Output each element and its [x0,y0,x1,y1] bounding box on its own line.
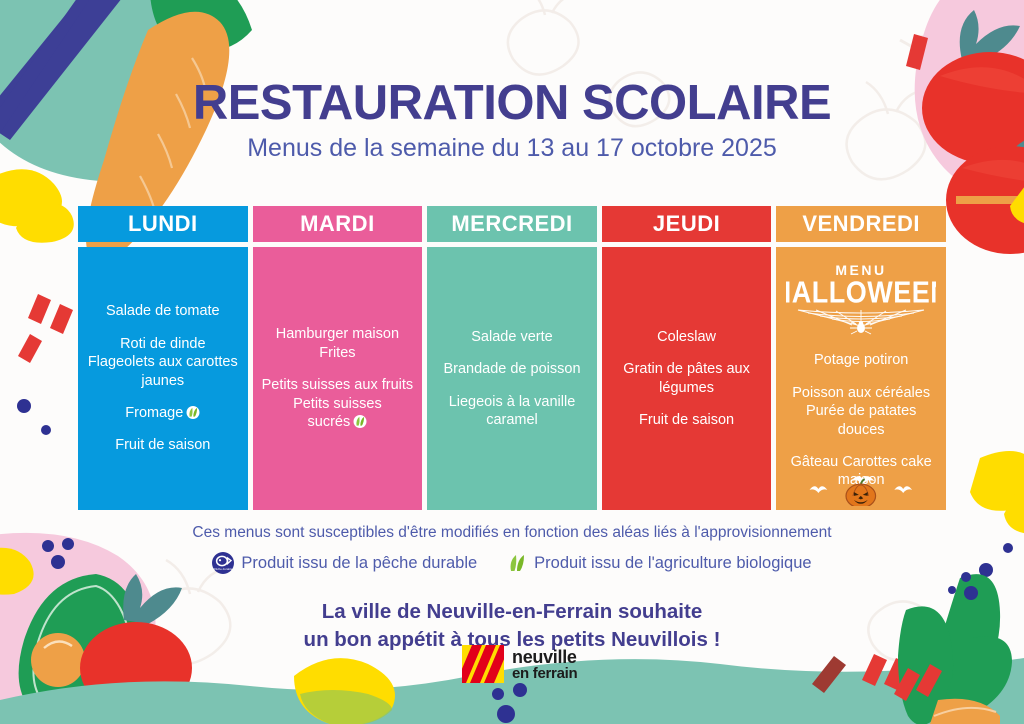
red-dashes-plant [894,664,942,701]
organic-leaf-icon [353,414,367,429]
menu-dish-text: Brandade de poisson [443,361,580,377]
day-menu-body: ColeslawGratin de pâtes aux légumesFruit… [602,247,772,510]
legend-item-sustainable-fishing: Pêche durable Produit issu de la pêche d… [212,552,477,574]
menu-dish-text: Fruit de saison [115,437,210,453]
day-menu-body: MENU HALLOWEEN Potage potironPoisson aux… [776,247,946,510]
menu-dish-text: Poisson aux céréales Purée de patates do… [792,385,930,438]
legend-label: Produit issu de la pêche durable [241,554,477,573]
day-header: MERCREDI [427,206,597,242]
red-dashes-left [18,294,73,363]
menu-dish: Poisson aux céréales Purée de patates do… [792,384,930,439]
yellow-blob-wave [294,658,395,724]
yellow-blobs-right-mid [970,451,1024,534]
menu-dish: Fruit de saison [115,436,210,454]
menu-dish: Liegeois à la vanille caramel [449,393,576,430]
legend-item-organic: Produit issu de l'agriculture biologique [507,552,811,574]
menu-dish-text: Fruit de saison [639,412,734,428]
menu-dish: Salade verte [471,328,552,346]
page-title: RESTAURATION SCOLAIRE [0,78,1024,129]
menu-dish: Fruit de saison [639,411,734,429]
halloween-banner-icon: MENU HALLOWEEN [786,260,936,338]
orange-bar-right [956,196,1024,204]
menu-dish-text: Petits suisses aux fruits Petits suisses… [262,377,414,430]
poster-header: RESTAURATION SCOLAIRE Menus de la semain… [0,78,1024,163]
sustainable-fishing-icon: Pêche durable [212,552,234,574]
menu-dish: Salade de tomate [106,302,220,320]
svg-text:Pêche durable: Pêche durable [214,567,233,571]
dark-red-dash-wave [812,656,846,693]
navy-dots-wave [492,683,527,723]
menu-dish-text: Potage potiron [814,352,908,368]
bat-icon [895,486,913,493]
day-header: MARDI [253,206,423,242]
day-column-mercredi: MERCREDISalade verteBrandade de poissonL… [427,206,597,510]
day-column-jeudi: JEUDIColeslawGratin de pâtes aux légumes… [602,206,772,510]
week-menu-grid: LUNDISalade de tomateRoti de dinde Flage… [78,206,946,510]
menu-dish-text: Salade verte [471,329,552,345]
day-menu-body: Salade de tomateRoti de dinde Flageolets… [78,247,248,510]
menu-dish-text: Hamburger maison Frites [276,326,399,360]
menu-dish-text: Gratin de pâtes aux légumes [623,361,750,395]
spider-icon [850,321,872,334]
menu-dish: Roti de dinde Flageolets aux carottes ja… [88,335,238,390]
menu-dish: Coleslaw [657,328,716,346]
day-header: VENDREDI [776,206,946,242]
menu-dish: Petits suisses aux fruits Petits suisses… [262,376,414,431]
navy-dots-left [17,399,51,435]
logo-line-2: en ferrain [512,666,577,681]
bat-icon [810,486,828,493]
green-leaf-top-left [150,0,252,51]
menu-dish-text: Liegeois à la vanille caramel [449,394,576,428]
day-menu-body: Hamburger maison FritesPetits suisses au… [253,247,423,510]
logo-line-1: neuville [512,648,577,666]
halloween-bottom-decor [776,472,946,506]
day-header: LUNDI [78,206,248,242]
organic-leaf-icon [507,552,527,574]
red-dashes-bottom-right [862,654,909,690]
yellow-blob-right-mid [1010,178,1024,226]
day-column-lundi: LUNDISalade de tomateRoti de dinde Flage… [78,206,248,510]
city-logo: neuville en ferrain [462,645,577,683]
pumpkin-icon [846,479,876,506]
menu-disclaimer: Ces menus sont susceptibles d'être modif… [0,524,1024,542]
page-subtitle: Menus de la semaine du 13 au 17 octobre … [0,135,1024,163]
day-column-vendredi: VENDREDI MENU HALLOWEEN Potage potironPo… [776,206,946,510]
menu-dish: Hamburger maison Frites [276,325,399,362]
menu-dish: Fromage [125,404,200,422]
svg-text:HALLOWEEN: HALLOWEEN [786,276,936,310]
menu-dish: Potage potiron [814,351,908,369]
yellow-blobs-left [0,169,74,242]
menu-dish-text: Fromage [125,405,183,421]
menu-poster: RESTAURATION SCOLAIRE Menus de la semain… [0,0,1024,724]
poster-footer: Ces menus sont susceptibles d'être modif… [0,524,1024,653]
legend-label: Produit issu de l'agriculture biologique [534,554,811,573]
logo-text: neuville en ferrain [512,648,577,681]
menu-dish-text: Roti de dinde Flageolets aux carottes ja… [88,336,238,389]
red-dash-top-right [906,34,928,70]
day-menu-body: Salade verteBrandade de poissonLiegeois … [427,247,597,510]
menu-dish: Gratin de pâtes aux légumes [623,360,750,397]
menu-dish: Brandade de poisson [443,360,580,378]
menu-dish-text: Salade de tomate [106,303,220,319]
menu-dish-text: Coleslaw [657,329,716,345]
organic-leaf-icon [186,405,200,420]
day-column-mardi: MARDIHamburger maison FritesPetits suiss… [253,206,423,510]
neuville-shield-icon [462,645,504,683]
day-header: JEUDI [602,206,772,242]
legend: Pêche durable Produit issu de la pêche d… [0,552,1024,574]
